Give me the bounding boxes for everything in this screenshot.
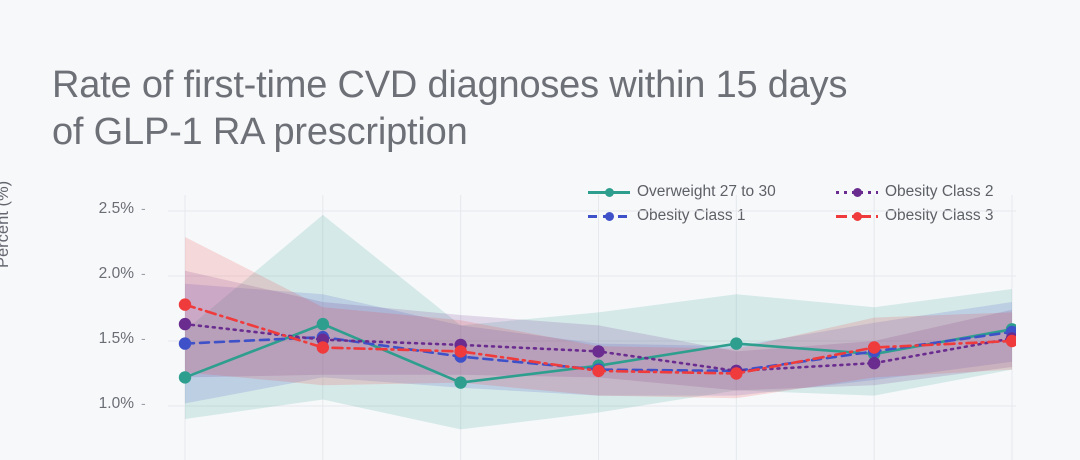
data-point	[317, 341, 329, 353]
line-chart-svg	[0, 195, 1080, 460]
data-point	[592, 345, 604, 357]
data-point	[454, 376, 466, 388]
chart-page: Rate of first-time CVD diagnoses within …	[0, 0, 1080, 460]
plot-area	[0, 195, 1080, 460]
data-point	[730, 367, 742, 379]
data-point	[179, 298, 191, 310]
data-point	[868, 357, 880, 369]
data-point	[179, 371, 191, 383]
data-point	[317, 318, 329, 330]
data-point	[179, 318, 191, 330]
data-point	[1006, 335, 1018, 347]
data-point	[592, 365, 604, 377]
data-point	[454, 345, 466, 357]
data-point	[730, 337, 742, 349]
data-point	[179, 337, 191, 349]
page-title: Rate of first-time CVD diagnoses within …	[52, 62, 1042, 156]
data-point	[868, 341, 880, 353]
